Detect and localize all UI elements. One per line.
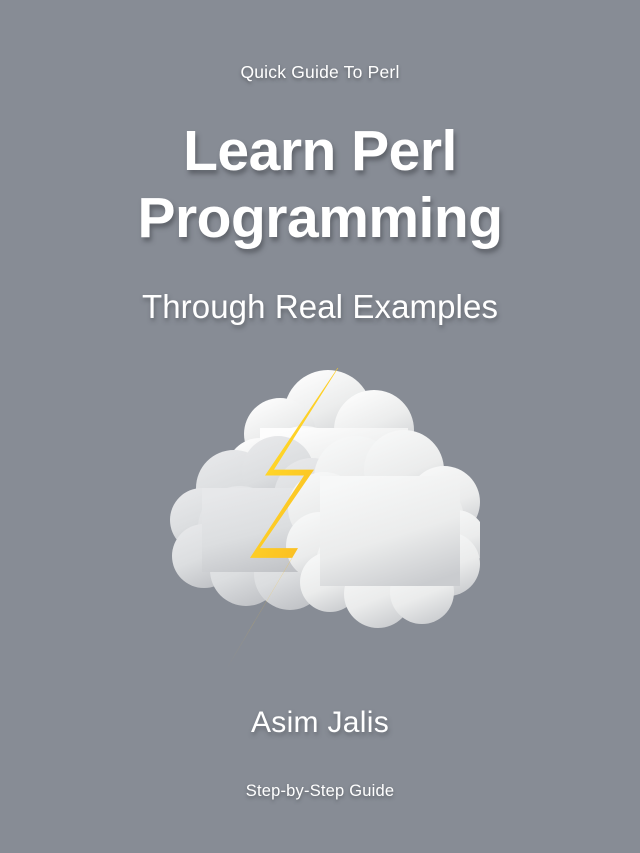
title-line-1: Learn Perl [0,118,640,185]
storm-cloud-lightning-icon [160,368,480,693]
series-line: Quick Guide To Perl [0,62,640,83]
book-cover: Quick Guide To Perl Learn Perl Programmi… [0,0,640,853]
title-line-2: Programming [0,185,640,252]
subtitle: Through Real Examples [0,288,640,326]
page-title: Learn Perl Programming [0,118,640,251]
author-name: Asim Jalis [0,706,640,740]
footer-line: Step-by-Step Guide [0,782,640,801]
